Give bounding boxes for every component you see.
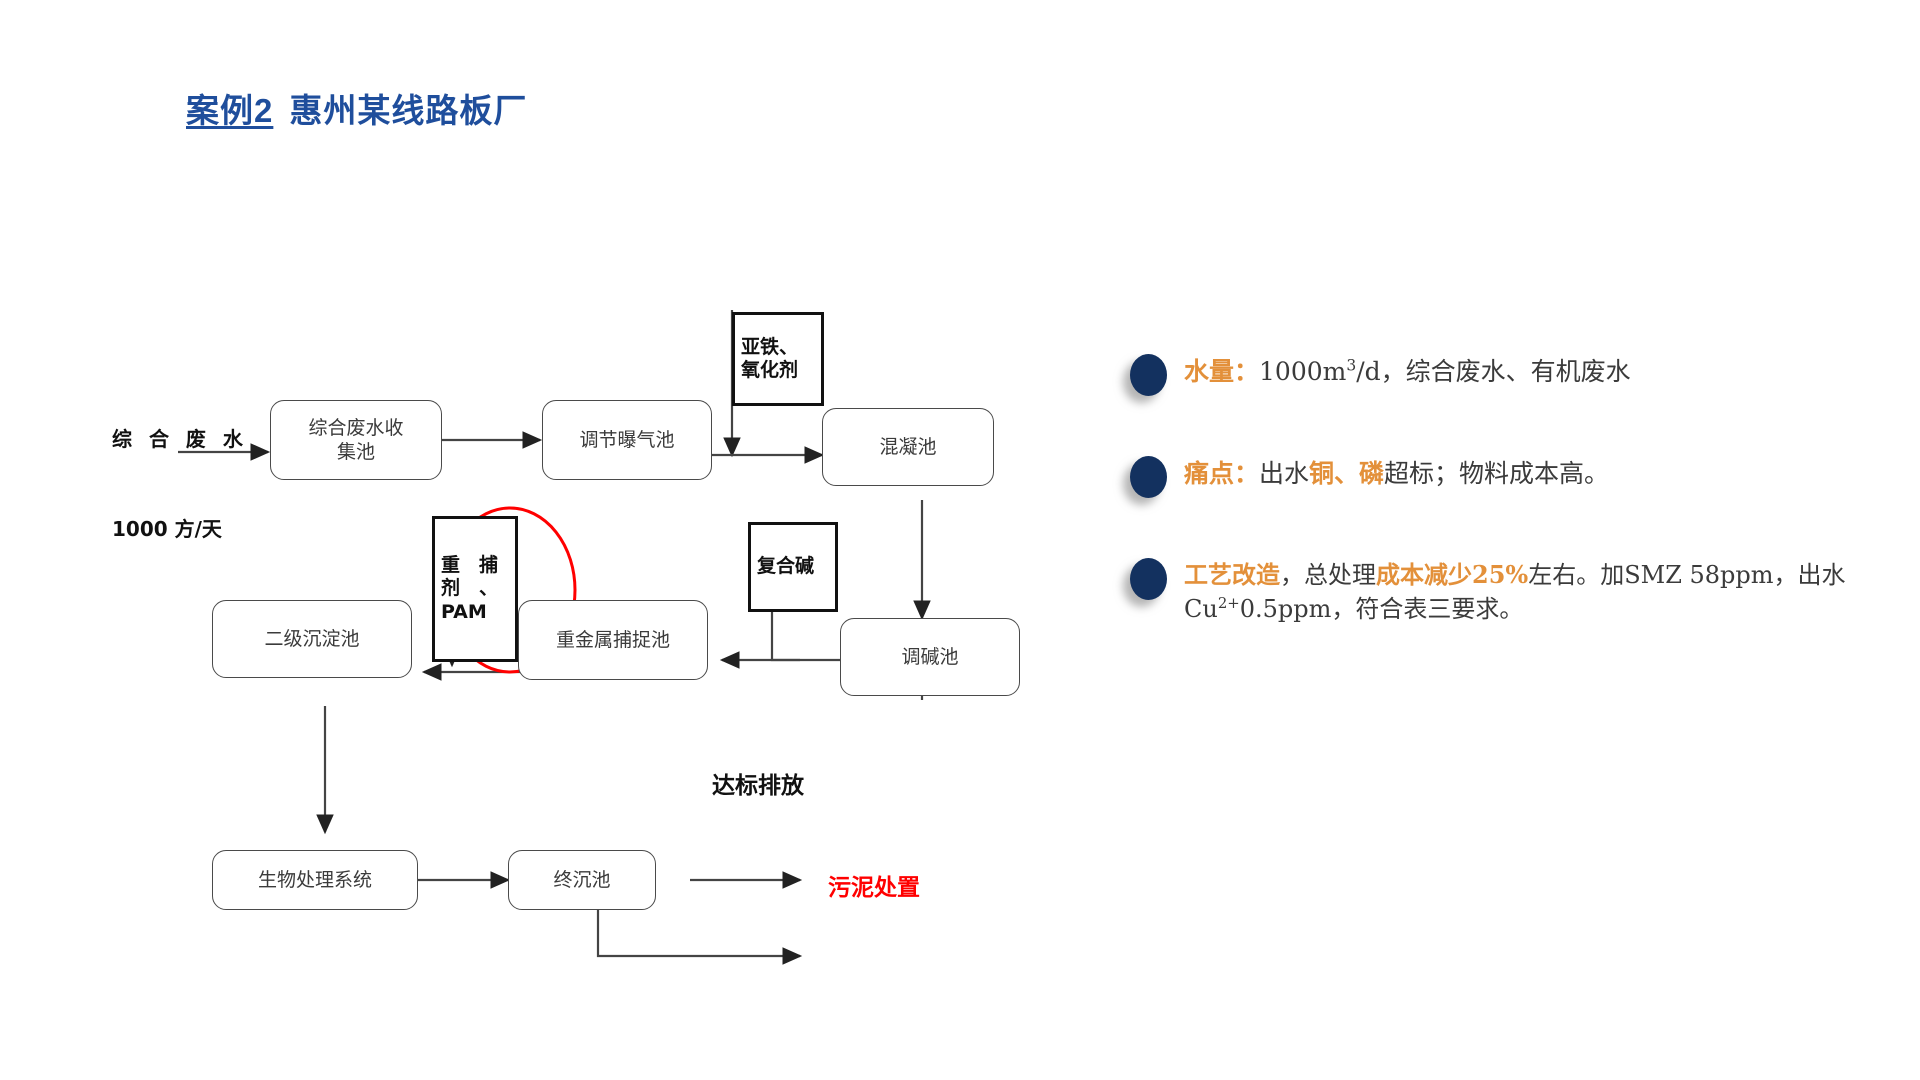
text-run: 超标；物料成本高。 xyxy=(1384,459,1609,488)
bullet-item-water-volume: 水量：1000m3/d，综合废水、有机废水 xyxy=(1120,352,1880,398)
bullet-marker-wrap xyxy=(1120,352,1184,398)
superscript: 2+ xyxy=(1218,594,1240,612)
chem-compound-alkali-line1: 复合碱 xyxy=(757,555,814,577)
chem-box-heavy-metal-capturer-pam[interactable]: 重 捕 剂 、 PAM xyxy=(432,516,518,662)
influent-label-line2: 1000 方/天 xyxy=(112,514,248,544)
bullet-marker-wrap xyxy=(1120,454,1184,500)
superscript: 3 xyxy=(1346,357,1356,375)
highlighted-text: 成本减少25% xyxy=(1376,560,1528,589)
process-box-aeration-tank[interactable]: 调节曝气池 xyxy=(542,400,712,480)
text-run: /d，综合废水、有机废水 xyxy=(1356,357,1630,386)
influent-label: 综 合 废 水 1000 方/天 xyxy=(112,364,248,604)
chem-capturer-line1: 重 捕 xyxy=(441,554,498,576)
highlighted-text: 工艺改造 xyxy=(1184,560,1280,589)
bullet-text-pain-points: 痛点：出水铜、磷超标；物料成本高。 xyxy=(1184,454,1880,493)
chem-box-ferrous-oxidant[interactable]: 亚铁、 氧化剂 xyxy=(732,312,824,406)
process-flow-diagram: 综 合 废 水 1000 方/天 综合废水收 集池 调节曝气池 混凝池 调碱池 … xyxy=(0,0,1050,1080)
sludge-label: 污泥处置 xyxy=(828,868,920,902)
bullet-marker-wrap xyxy=(1120,556,1184,602)
summary-bullet-list: 水量：1000m3/d，综合废水、有机废水 痛点：出水铜、磷超标；物料成本高。 … xyxy=(1120,352,1880,682)
bullet-text-water-volume: 水量：1000m3/d，综合废水、有机废水 xyxy=(1184,352,1880,391)
text-run: 0.5ppm，符合表三要求。 xyxy=(1240,595,1524,623)
highlighted-text: 水量： xyxy=(1184,357,1259,386)
process-box-alkali-tank[interactable]: 调碱池 xyxy=(840,618,1020,696)
process-box-heavy-metal-capture-tank[interactable]: 重金属捕捉池 xyxy=(518,600,708,680)
highlighted-text: 铜、磷 xyxy=(1309,459,1384,488)
text-run: 出水 xyxy=(1259,459,1309,488)
chem-capturer-line3: PAM xyxy=(441,601,487,623)
chem-ferrous-line1: 亚铁、 xyxy=(741,336,798,358)
process-box-collection-tank[interactable]: 综合废水收 集池 xyxy=(270,400,442,480)
highlighted-text: 痛点： xyxy=(1184,459,1259,488)
arrow-final-to-sludge xyxy=(598,910,800,956)
process-box-secondary-sedimentation-tank[interactable]: 二级沉淀池 xyxy=(212,600,412,678)
bullet-dot-icon xyxy=(1130,456,1167,498)
bullet-dot-icon xyxy=(1130,558,1167,600)
process-box-coagulation-tank[interactable]: 混凝池 xyxy=(822,408,994,486)
bullet-item-pain-points: 痛点：出水铜、磷超标；物料成本高。 xyxy=(1120,454,1880,500)
text-run: ，总处理 xyxy=(1280,561,1376,589)
text-run: 1000m xyxy=(1259,357,1346,386)
influent-label-line1: 综 合 废 水 xyxy=(112,424,248,454)
chem-box-compound-alkali[interactable]: 复合碱 xyxy=(748,522,838,612)
process-box-final-sedimentation-tank[interactable]: 终沉池 xyxy=(508,850,656,910)
discharge-label: 达标排放 xyxy=(712,766,804,800)
chem-capturer-line2: 剂 、 xyxy=(441,577,498,599)
bullet-text-process-upgrade: 工艺改造，总处理成本减少25%左右。加SMZ 58ppm，出水Cu2+0.5pp… xyxy=(1184,556,1880,626)
bullet-dot-icon xyxy=(1130,354,1167,396)
bullet-item-process-upgrade: 工艺改造，总处理成本减少25%左右。加SMZ 58ppm，出水Cu2+0.5pp… xyxy=(1120,556,1880,626)
process-box-bio-treatment-system[interactable]: 生物处理系统 xyxy=(212,850,418,910)
chem-ferrous-line2: 氧化剂 xyxy=(741,359,798,381)
